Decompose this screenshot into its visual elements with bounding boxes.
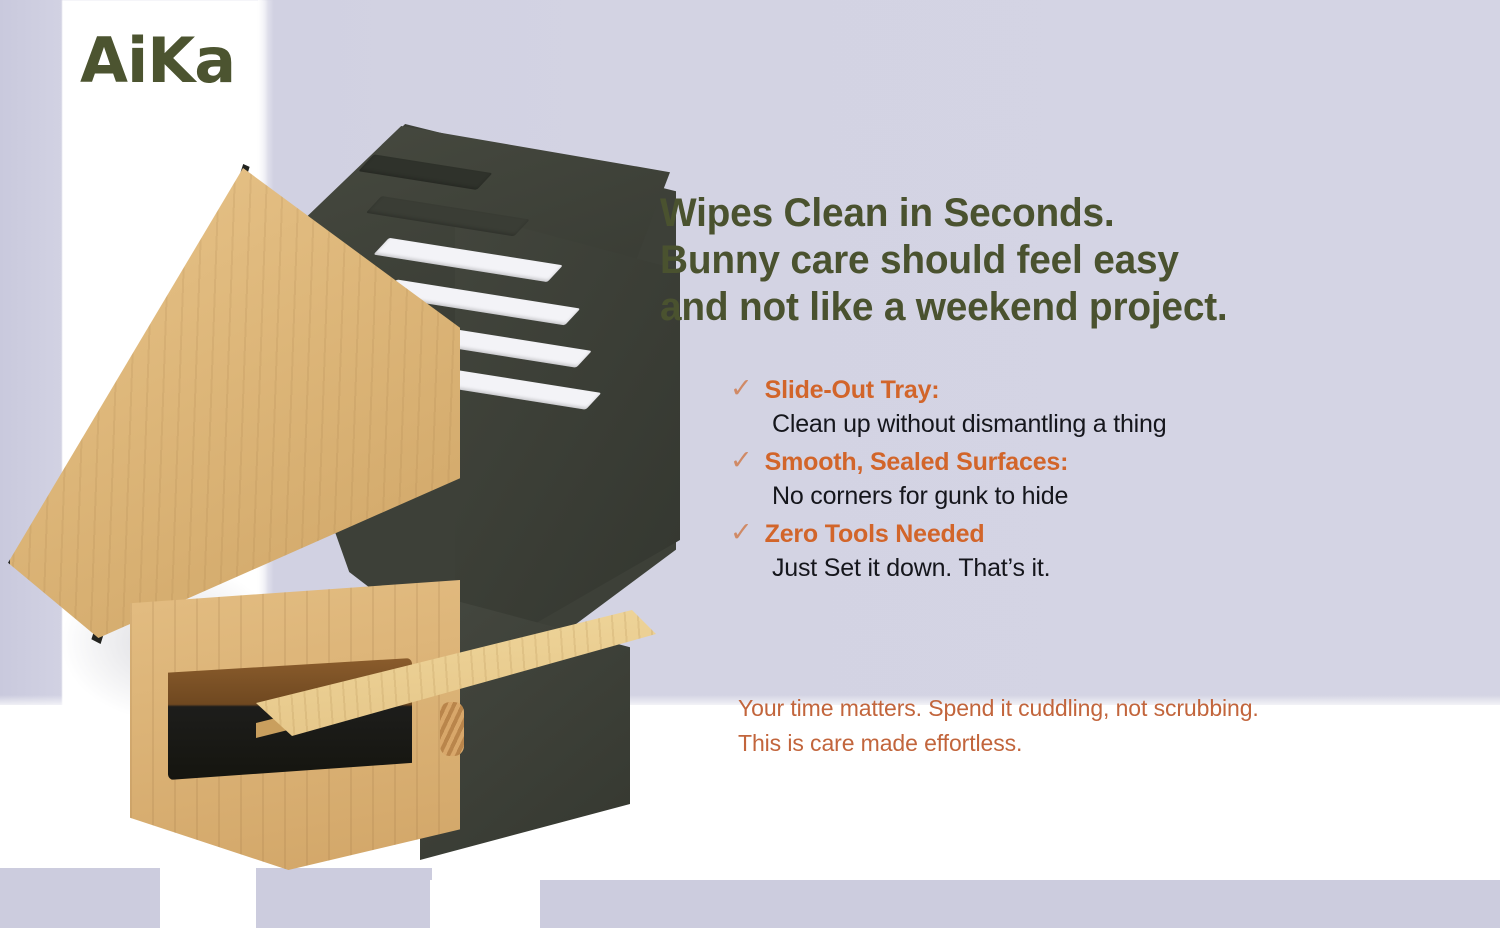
headline-line-3: and not like a weekend project. bbox=[660, 284, 1417, 331]
feature-item: ✓ Slide-Out Tray: Clean up without disma… bbox=[730, 376, 1440, 439]
feature-heading-row: ✓ Zero Tools Needed bbox=[730, 520, 1440, 549]
feature-item: ✓ Zero Tools Needed Just Set it down. Th… bbox=[730, 520, 1440, 583]
hutch-rope-detail bbox=[440, 702, 464, 756]
footer-line-2: This is care made effortless. bbox=[738, 726, 1440, 762]
feature-heading-row: ✓ Smooth, Sealed Surfaces: bbox=[730, 448, 1440, 477]
footer-tagline: Your time matters. Spend it cuddling, no… bbox=[738, 691, 1440, 762]
marketing-copy-column: Wipes Clean in Seconds. Bunny care shoul… bbox=[660, 190, 1440, 762]
headline-line-1: Wipes Clean in Seconds. bbox=[660, 190, 1417, 237]
product-image-rabbit-hutch bbox=[0, 110, 700, 910]
feature-title: Zero Tools Needed bbox=[765, 520, 985, 549]
vent-slot bbox=[358, 154, 492, 190]
feature-title: Slide-Out Tray: bbox=[765, 376, 940, 405]
vent-slot bbox=[373, 238, 562, 282]
brand-logo[interactable]: AiKa bbox=[80, 30, 235, 92]
feature-description: Clean up without dismantling a thing bbox=[772, 410, 1440, 439]
feature-heading-row: ✓ Slide-Out Tray: bbox=[730, 376, 1440, 405]
headline: Wipes Clean in Seconds. Bunny care shoul… bbox=[660, 190, 1417, 332]
check-icon: ✓ bbox=[730, 447, 753, 474]
brand-logo-text: AiKa bbox=[80, 30, 235, 92]
feature-title: Smooth, Sealed Surfaces: bbox=[765, 448, 1069, 477]
feature-description: Just Set it down. That’s it. bbox=[772, 554, 1440, 583]
check-icon: ✓ bbox=[730, 375, 753, 402]
feature-list: ✓ Slide-Out Tray: Clean up without disma… bbox=[660, 376, 1440, 583]
feature-description: No corners for gunk to hide bbox=[772, 482, 1440, 511]
headline-line-2: Bunny care should feel easy bbox=[660, 237, 1417, 284]
check-icon: ✓ bbox=[730, 519, 753, 546]
footer-line-1: Your time matters. Spend it cuddling, no… bbox=[738, 691, 1440, 727]
vent-slot bbox=[366, 196, 530, 236]
feature-item: ✓ Smooth, Sealed Surfaces: No corners fo… bbox=[730, 448, 1440, 511]
